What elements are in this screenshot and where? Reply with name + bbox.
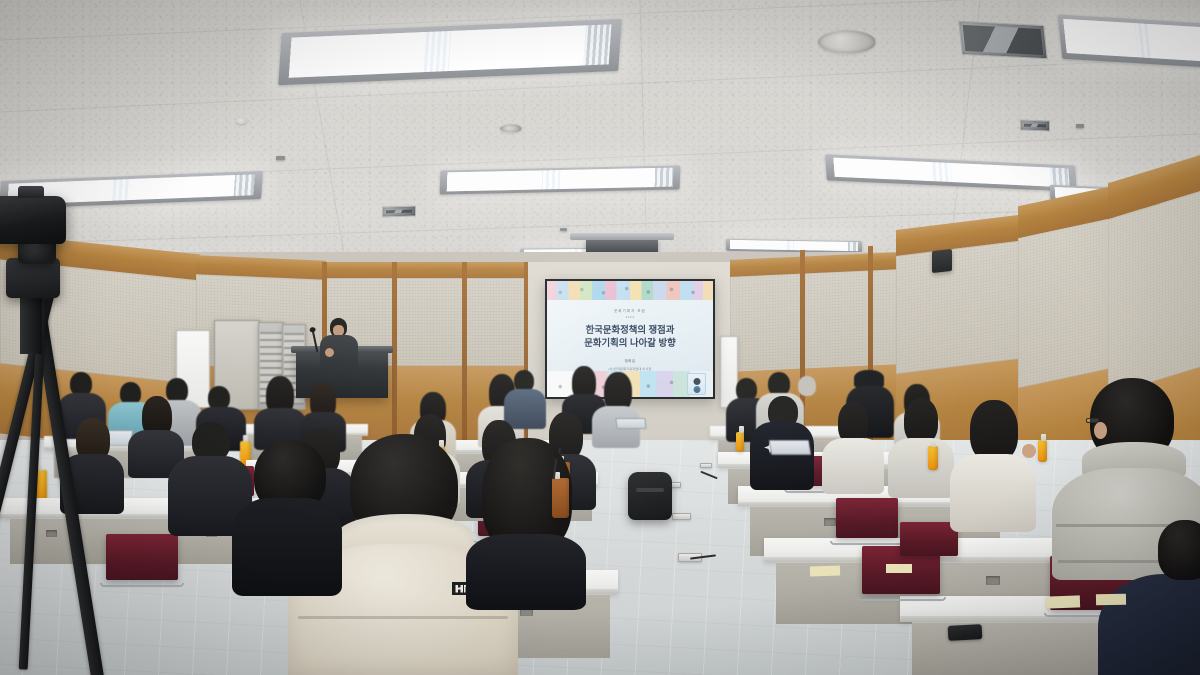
wall-acoustic-panel: [730, 269, 900, 373]
paper-handout: [810, 565, 840, 576]
wall-wood-trim: [322, 262, 528, 278]
ceiling-air-vent: [958, 21, 1048, 60]
attendee-hair: [970, 400, 1018, 462]
attendee: [888, 398, 954, 494]
attendee-head: [798, 376, 816, 396]
attendee: [466, 438, 586, 598]
ceiling-air-vent: [382, 206, 416, 218]
attendee-torso: [466, 534, 586, 610]
fleece-seam: [298, 616, 508, 619]
video-camera-body: [0, 196, 66, 244]
paper-handout: [1046, 595, 1080, 608]
attendee-torso: [232, 498, 342, 596]
orange-juice-bottle: [1038, 440, 1047, 462]
floor-power-outlet-box: [700, 463, 712, 468]
wall-acoustic-panel: [1108, 189, 1200, 396]
seminar-chair: [836, 498, 898, 538]
tripod-head: [6, 258, 60, 298]
slide-kicker: 문화기획자 포럼: [547, 308, 713, 313]
attendee-torso: [822, 438, 884, 494]
ceiling-mount-bracket: [1076, 124, 1084, 128]
smartphone-on-desk: [948, 624, 983, 641]
slide-presenter-portrait: [687, 373, 706, 395]
smoke-detector: [236, 118, 247, 124]
attendee-ear: [1094, 422, 1107, 439]
tripod-center-column: [20, 292, 42, 354]
wall-speaker: [932, 249, 952, 273]
laptop: [615, 418, 646, 429]
ceiling-light-fixture: [440, 165, 681, 194]
attendee-navy-corner: [1098, 574, 1200, 675]
paper-handout: [886, 564, 912, 573]
slide-presenter-name: 정희섭: [547, 359, 713, 364]
slide-top-illustration-banner: [547, 281, 713, 300]
slide-title-line-2: 문화기획의 나아갈 방향: [584, 337, 675, 348]
attendee-torso: [1098, 574, 1200, 675]
wall-acoustic-panel: [1018, 218, 1114, 388]
desk-cable-port: [824, 518, 836, 526]
ceiling-speaker: [500, 124, 522, 133]
attendee: [822, 402, 884, 490]
attendee-torso: [888, 438, 954, 498]
attendee: [950, 400, 1036, 526]
video-camera-rig: [0, 0, 220, 675]
wall-mullion: [462, 262, 467, 444]
paper-handout: [1096, 594, 1126, 606]
laptop: [769, 440, 811, 455]
floor-power-outlet-box: [672, 513, 691, 520]
desk-cable-port: [986, 576, 1000, 585]
slide-title: 한국문화정책의 쟁점과 문화기획의 나아갈 방향: [555, 323, 705, 350]
seminar-chair: [900, 522, 958, 556]
backpack-on-floor: [628, 472, 672, 520]
wall-acoustic-panel: [896, 240, 1026, 374]
orange-juice-bottle: [736, 432, 744, 452]
slide-kicker-secondary: 2024: [547, 315, 713, 319]
attendee-hand: [1022, 444, 1036, 458]
speaker-at-podium: [316, 318, 360, 368]
attendee-head: [1158, 520, 1200, 580]
orange-juice-bottle: [928, 446, 938, 470]
attendee: [232, 440, 342, 590]
attendee-torso: [950, 454, 1036, 532]
ceiling-mount-bracket: [276, 156, 285, 160]
ceiling-speaker: [818, 30, 876, 54]
slide-title-line-1: 한국문화정책의 쟁점과: [586, 324, 675, 335]
speaker-hand: [325, 348, 334, 357]
iced-drink-cup: [552, 478, 569, 518]
ceiling-mount-bracket: [560, 228, 567, 231]
ceiling-air-vent: [1020, 119, 1050, 131]
wall-mullion: [392, 262, 397, 444]
attendee: [592, 372, 640, 440]
lecture-hall-photo: 문화기획자 포럼 2024 한국문화정책의 쟁점과 문화기획의 나아갈 방향 정…: [0, 0, 1200, 675]
